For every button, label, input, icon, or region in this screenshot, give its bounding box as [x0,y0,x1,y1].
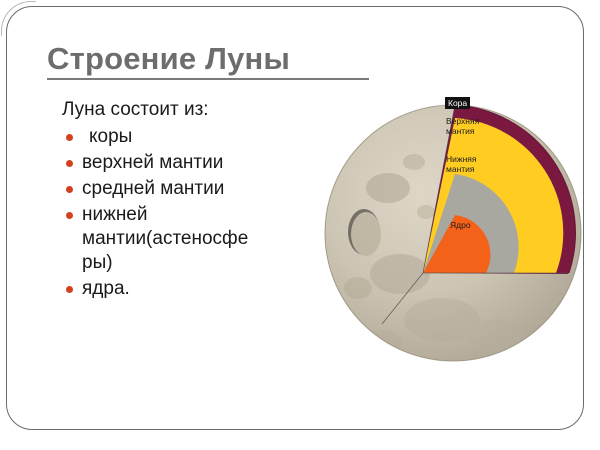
slide: Строение Луны Луна состоит из: коры верх… [0,0,600,450]
lead-sentence: Луна состоит из: [62,98,302,122]
page-title-block: Строение Луны [47,43,377,80]
bullet-dot-icon [66,212,73,219]
list-item-label-line1: нижней [82,204,148,225]
content-text-column: Луна состоит из: коры верхней мантии сре… [62,98,302,303]
list-item: нижней мантии(астеносфе ры) [62,203,302,275]
list-item: коры [62,125,302,149]
corner-decoration [1,1,36,36]
label-lower-mantle-line1: Нижняя [446,154,476,164]
title-underline [47,78,369,80]
label-lower-mantle-line2: мантия [446,164,475,174]
label-upper-mantle-line1: Верхняя [446,116,479,126]
list-item-label-line3: ры) [82,252,113,273]
list-item-label: ядра. [82,278,130,299]
list-item: верхней мантии [62,151,302,175]
label-upper-mantle: Верхняя мантия [446,116,479,137]
list-item: ядра. [62,277,302,301]
list-item-label: средней мантии [82,178,224,199]
moon-interior-diagram: Кора Верхняя мантия Нижняя мантия Ядро [322,92,584,374]
list-item-label: верхней мантии [82,152,223,173]
bullet-dot-icon [66,286,73,293]
bullet-dot-icon [66,186,73,193]
label-core: Ядро [450,220,471,230]
list-item-label: коры [82,126,132,147]
page-title: Строение Луны [47,43,377,76]
label-upper-mantle-line2: мантия [446,126,475,136]
label-lower-mantle: Нижняя мантия [446,154,476,175]
bullet-dot-icon [66,160,73,167]
list-item: средней мантии [62,177,302,201]
bullet-dot-icon [66,134,73,141]
label-crust: Кора [445,97,470,109]
structure-list: коры верхней мантии средней мантии нижне… [62,125,302,301]
list-item-label-line2: мантии(астеносфе [82,228,248,249]
